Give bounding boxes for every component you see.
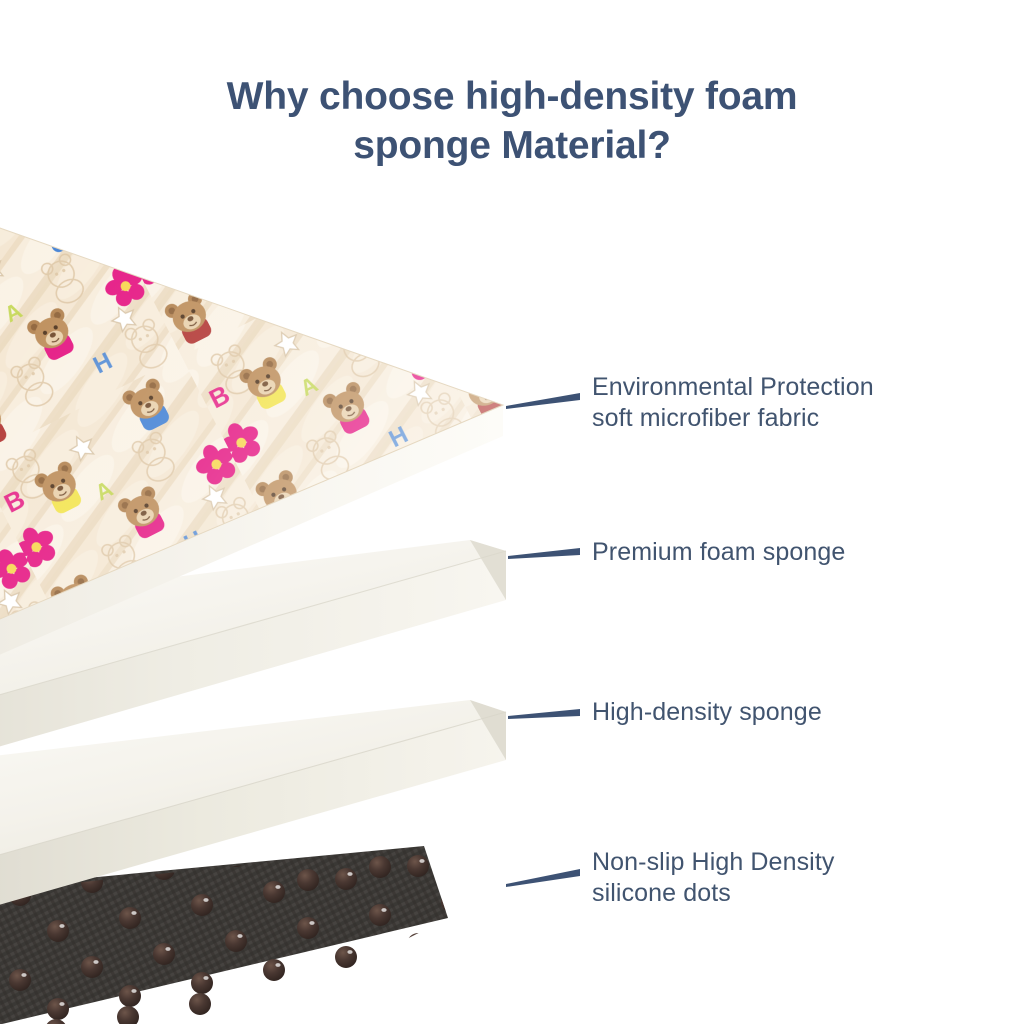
title-line-2: sponge Material? (0, 121, 1024, 170)
callout-label-silicone-dots: Non-slip High Density silicone dots (592, 847, 834, 909)
product-infographic: Why choose high-density foam sponge Mate… (0, 0, 1024, 1024)
callout-label-high-density-sponge: High-density sponge (592, 697, 822, 728)
callout-label-fabric: Environmental Protection soft microfiber… (592, 372, 874, 434)
title-line-1: Why choose high-density foam (0, 72, 1024, 121)
callout-label-premium-foam: Premium foam sponge (592, 537, 845, 568)
page-title: Why choose high-density foam sponge Mate… (0, 72, 1024, 170)
